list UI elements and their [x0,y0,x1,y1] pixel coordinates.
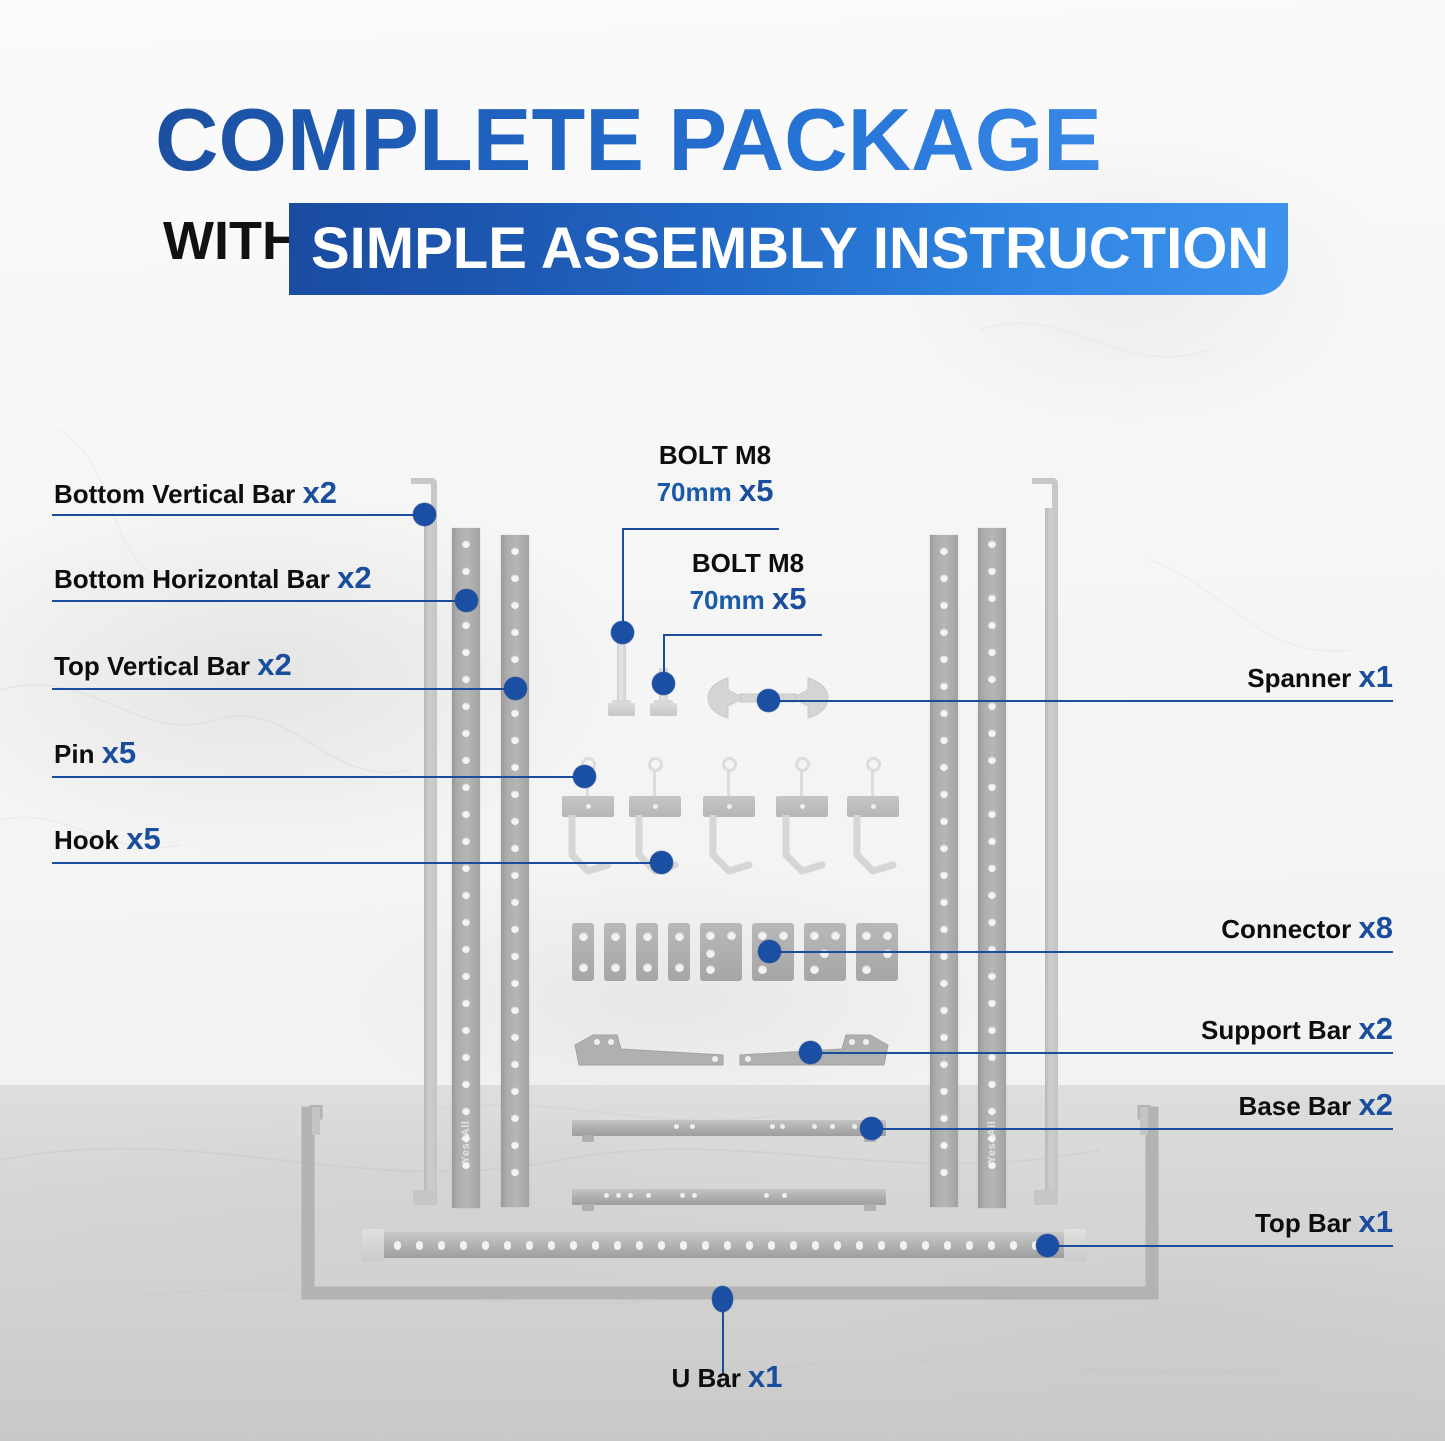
leader-line-connector [769,951,1393,953]
leader-line-bolt-2 [663,634,822,636]
label-u-bar-qty: x1 [748,1359,782,1394]
leader-line-bolt-1-drop [622,528,624,632]
label-bolt-1-name: BOLT M8 [600,440,830,470]
leader-line-spanner [768,700,1393,702]
callout-dot-spanner [757,689,780,712]
leader-line-base-bar [871,1128,1393,1130]
support-bar-part [573,1033,728,1069]
label-bolt-2-name: BOLT M8 [633,548,863,578]
page-title: COMPLETE PACKAGE [155,92,1335,188]
callout-dot-connector [758,940,781,963]
label-bolt-2: BOLT M8 70mm x5 [633,548,863,615]
label-bolt-2-size: 70mm [690,585,765,615]
title-banner: SIMPLE ASSEMBLY INSTRUCTION [289,203,1288,295]
connector-part [668,923,690,981]
callout-dot-pin [573,765,596,788]
label-connector-text: Connector [1221,914,1351,944]
label-u-bar-text: U Bar [671,1363,740,1393]
bottom-vertical-bar-left [424,508,437,1203]
label-bolt-1: BOLT M8 70mm x5 [600,440,830,507]
label-bottom-vertical-bar-text: Bottom Vertical Bar [54,479,295,509]
label-bolt-2-qty: x5 [772,581,806,616]
label-bottom-horizontal-bar-text: Bottom Horizontal Bar [54,564,330,594]
connector-part [636,923,658,981]
pin-stem [800,771,803,799]
label-pin-text: Pin [54,739,94,769]
label-pin: Pin x5 [54,738,136,769]
callout-dot-bolt-1 [611,621,634,644]
label-bolt-1-qty: x5 [739,473,773,508]
label-bottom-horizontal-bar: Bottom Horizontal Bar x2 [54,563,372,594]
label-bolt-1-size: 70mm [657,477,732,507]
callout-dot-bottom-horizontal-bar [455,589,478,612]
pin-stem [727,771,730,799]
label-hook: Hook x5 [54,824,161,855]
label-top-vertical-bar: Top Vertical Bar x2 [54,650,292,681]
hook-part [782,815,828,877]
pin-part [866,757,881,772]
label-bottom-vertical-bar: Bottom Vertical Bar x2 [54,478,337,509]
label-support-bar-text: Support Bar [1201,1015,1351,1045]
label-hook-qty: x5 [126,821,160,856]
title-banner-text: SIMPLE ASSEMBLY INSTRUCTION [311,214,1269,284]
label-u-bar: U Bar x1 [612,1362,842,1393]
callout-dot-hook [650,851,673,874]
label-top-bar: Top Bar x1 [1000,1207,1393,1238]
hook-block [562,796,614,817]
callout-dot-bolt-2 [652,672,675,695]
hook-block [629,796,681,817]
hook-part [568,815,614,877]
pin-stem [653,771,656,799]
pin-part [648,757,663,772]
callout-dot-base-bar [860,1117,883,1140]
connector-part [572,923,594,981]
bolt-m8-short-head [650,703,677,716]
callout-dot-u-bar [712,1286,733,1312]
infographic-canvas: COMPLETE PACKAGE WITH SIMPLE ASSEMBLY IN… [0,0,1445,1441]
connector-part [604,923,626,981]
leader-line-hook [52,862,658,864]
label-top-bar-qty: x1 [1359,1204,1393,1239]
label-support-bar: Support Bar x2 [1000,1014,1393,1045]
label-base-bar-text: Base Bar [1239,1091,1352,1121]
label-base-bar: Base Bar x2 [1000,1090,1393,1121]
bottom-vertical-bar-right-head [1032,478,1058,512]
pin-part [722,757,737,772]
callout-dot-support-bar [799,1041,822,1064]
connector-part [700,923,742,981]
bolt-m8-long-head [608,703,635,716]
label-connector-qty: x8 [1359,910,1393,945]
label-spanner-text: Spanner [1247,663,1351,693]
label-top-vertical-bar-qty: x2 [257,647,291,682]
top-bar-part [364,1232,1084,1258]
callout-dot-bottom-vertical-bar [413,503,436,526]
label-hook-text: Hook [54,825,119,855]
label-top-vertical-bar-text: Top Vertical Bar [54,651,250,681]
label-bottom-vertical-bar-qty: x2 [303,475,337,510]
leader-line-top-bar [1047,1245,1393,1247]
leader-line-pin [52,776,580,778]
hook-block [776,796,828,817]
leader-line-bottom-horizontal-bar [52,600,466,602]
label-connector: Connector x8 [1000,913,1393,944]
hook-part [853,815,899,877]
hook-block [703,796,755,817]
label-pin-qty: x5 [102,735,136,770]
pin-stem [871,771,874,799]
leader-line-top-vertical-bar [52,688,516,690]
title-with-word: WITH [163,210,301,272]
label-spanner: Spanner x1 [1000,662,1393,693]
label-top-bar-text: Top Bar [1255,1208,1351,1238]
label-spanner-qty: x1 [1359,659,1393,694]
leader-line-bolt-1 [622,528,779,530]
leader-line-support-bar [810,1052,1393,1054]
hook-part [709,815,755,877]
label-bottom-horizontal-bar-qty: x2 [337,560,371,595]
callout-dot-top-vertical-bar [504,677,527,700]
label-support-bar-qty: x2 [1359,1011,1393,1046]
leader-line-bottom-vertical-bar [52,514,424,516]
pin-part [795,757,810,772]
label-base-bar-qty: x2 [1359,1087,1393,1122]
hook-block [847,796,899,817]
